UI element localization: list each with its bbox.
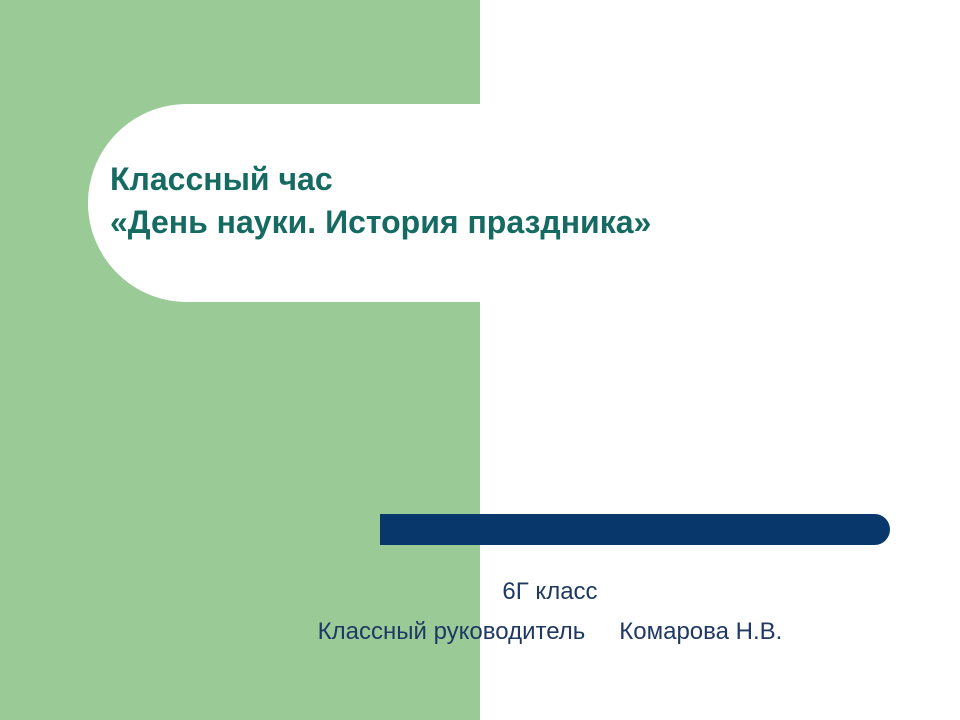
slide-credits: 6Г класс Классный руководительКомарова Н… [180,572,920,652]
navy-accent-bar [380,514,890,545]
credit-teacher-label: Классный руководитель [318,618,586,645]
slide-title-line-2: «День науки. История праздника» [110,201,910,244]
presentation-slide: Классный час «День науки. История праздн… [0,0,960,720]
slide-title-line-1: Классный час [110,158,910,201]
credit-teacher-row: Классный руководительКомарова Н.В. [180,612,920,652]
credit-class-name: 6Г класс [180,572,920,612]
credit-teacher-value: Комарова Н.В. [619,618,782,645]
slide-title: Классный час «День науки. История праздн… [110,158,910,244]
